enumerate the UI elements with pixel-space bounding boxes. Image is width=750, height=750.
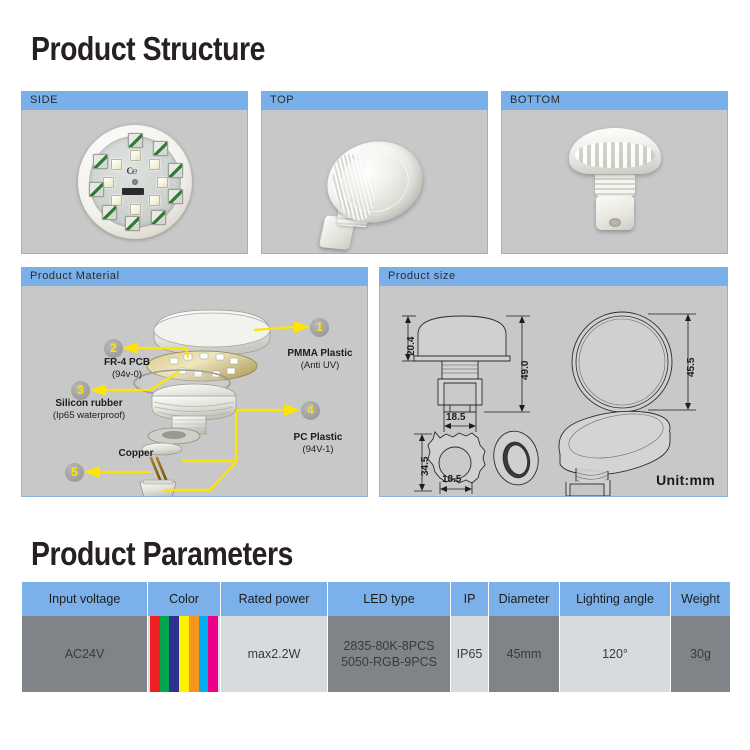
callout-label-3: Silicon rubber (Ip65 waterproof) [29,398,149,422]
bottom-cap [569,128,661,174]
lamp-bottom-illustration [569,128,661,230]
photo-card-bottom: BOTTOM [501,91,728,254]
column-header-ip: IP [451,582,488,616]
callout-badge-2: 2 [104,339,123,358]
photo-bottom-view [501,110,728,254]
column-header-led-type: LED type [328,582,450,616]
color-swatch-1 [150,616,160,692]
pcb-center-dot [132,179,138,185]
product-parameters-table: Input voltage Color Rated power LED type… [21,582,731,692]
column-header-lighting-angle: Lighting angle [560,582,670,616]
cell-diameter: 45mm [489,616,559,692]
dimension-49-0: 49.0 [520,361,531,380]
callout-label-1: PMMA Plastic (Anti UV) [272,348,368,372]
cell-ip: IP65 [451,616,488,692]
color-swatch-5 [189,616,199,692]
led-type-line-1: 2835-80K-8PCS [343,639,434,653]
color-swatch-4 [179,616,189,692]
lamp-top-illustration [318,131,431,232]
led-type-line-2: 5050-RGB-9PCS [341,655,437,669]
cell-led-type: 2835-80K-8PCS 5050-RGB-9PCS [328,616,450,692]
photo-side-view: C℮ [21,110,248,254]
color-swatch-3 [169,616,179,692]
panel-label-product-material: Product Material [21,267,368,286]
column-header-color: Color [148,582,220,616]
column-header-weight: Weight [671,582,730,616]
column-header-rated-power: Rated power [221,582,327,616]
cell-rated-power: max2.2W [221,616,327,692]
cell-color [148,616,220,692]
panel-label-bottom: BOTTOM [501,91,728,110]
callout-badge-4: 4 [301,401,320,420]
color-swatch-2 [160,616,170,692]
callout-label-5: Copper [98,448,174,460]
callout-label-2: FR-4 PCB (94v-0) [79,357,175,381]
callout-badge-5: 5 [65,463,84,482]
cap-ribs [575,142,655,168]
color-swatch-strip [150,616,218,692]
panel-label-top: TOP [261,91,488,110]
dimension-20-4: 20.4 [406,337,417,356]
photo-card-side: SIDE [21,91,248,254]
pcb-resistor [122,188,144,195]
panel-label-product-size: Product size [379,267,728,286]
dimension-18-5-side: 18.5 [446,412,465,423]
photo-card-top: TOP [261,91,488,254]
column-header-diameter: Diameter [489,582,559,616]
photo-top-view [261,110,488,254]
unit-note: Unit:mm [656,472,715,488]
technical-drawing [380,286,727,496]
callout-badge-1: 1 [310,318,329,337]
dimension-18-5-bottom: 18.5 [442,474,461,485]
table-header-row: Input voltage Color Rated power LED type… [22,582,730,616]
dimension-45-5: 45.5 [686,358,697,377]
panel-product-material: Product Material [21,267,368,497]
material-diagram-body: 1 2 3 4 5 PMMA Plastic (Anti UV) FR-4 PC… [21,286,368,497]
ce-mark-icon: C℮ [127,166,137,176]
cell-weight: 30g [671,616,730,692]
color-swatch-6 [199,616,209,692]
page-title-product-structure: Product Structure [31,30,265,68]
panel-label-side: SIDE [21,91,248,110]
disc-ribs [326,149,381,225]
cell-input-voltage: AC24V [22,616,147,692]
color-swatch-7 [208,616,218,692]
cell-lighting-angle: 120° [560,616,670,692]
column-header-input-voltage: Input voltage [22,582,147,616]
dimension-34-5: 34.5 [420,457,431,476]
table-row: AC24V max2.2W 2835-80K-8PCS 5050-RGB-9PC… [22,616,730,692]
product-spec-page: Product Structure SIDE [0,0,750,750]
bottom-connector [596,196,634,230]
page-title-product-parameters: Product Parameters [31,535,293,573]
led-pcb-illustration: C℮ [78,125,192,239]
callout-label-4: PC Plastic (94V-1) [270,432,366,456]
panel-product-size: Product size [379,267,728,497]
size-drawing-body: 20.4 49.0 18.5 45.5 34.5 18.5 Unit:mm [379,286,728,497]
